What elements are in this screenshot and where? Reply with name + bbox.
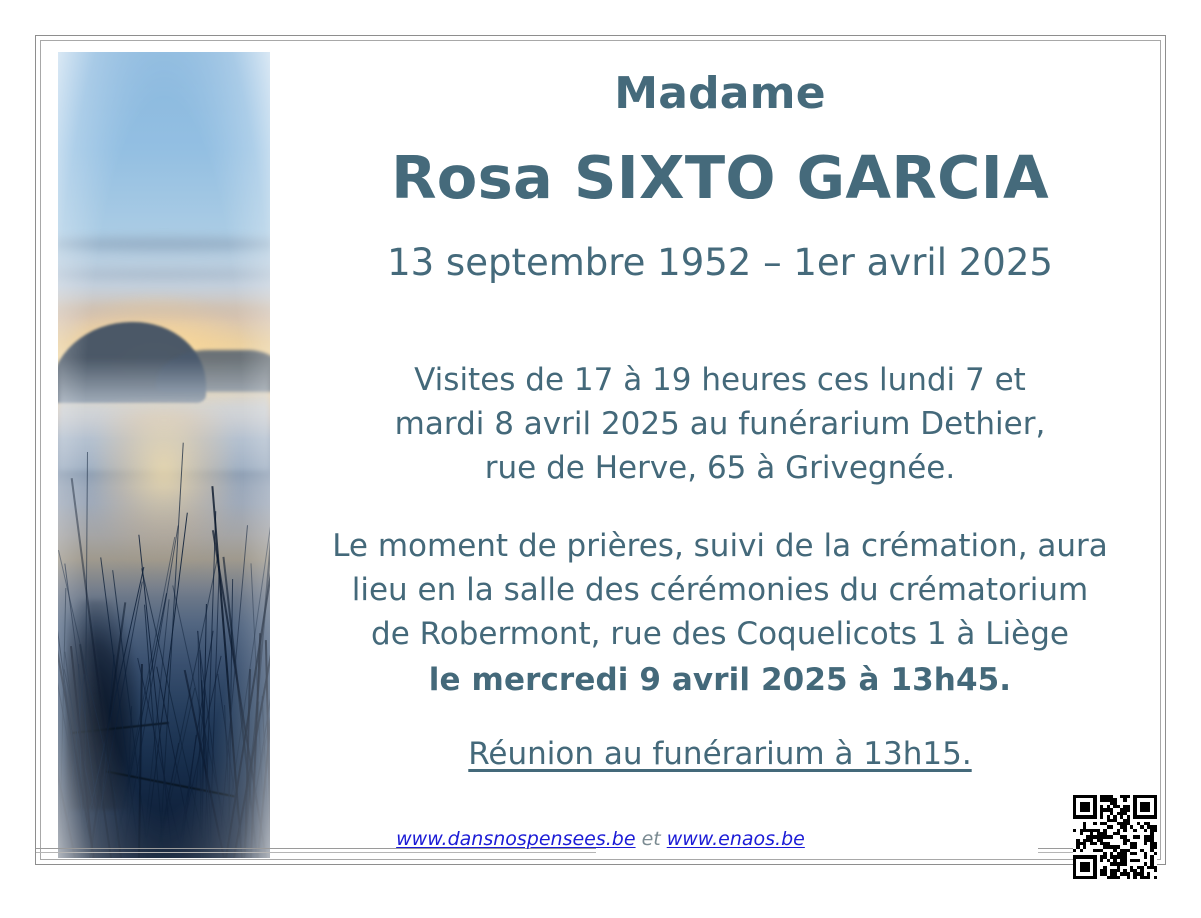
photo-cloud-streak xyxy=(58,270,270,279)
reunion-text: Réunion au funérarium à 13h15. xyxy=(468,736,971,772)
deceased-name: Rosa SIXTO GARCIA xyxy=(290,146,1150,211)
ceremony-line-1: Le moment de prières, suivi de la crémat… xyxy=(332,528,1108,564)
visits-paragraph: Visites de 17 à 19 heures ces lundi 7 et… xyxy=(290,358,1150,490)
visits-line-2: mardi 8 avril 2025 au funérarium Dethier… xyxy=(395,406,1046,442)
honorific: Madame xyxy=(290,70,1150,118)
ceremony-line-2: lieu en la salle des cérémonies du créma… xyxy=(352,572,1089,608)
ceremony-line-3: de Robermont, rue des Coquelicots 1 à Li… xyxy=(371,616,1069,652)
life-dates: 13 septembre 1952 – 1er avril 2025 xyxy=(290,241,1150,285)
link-dansnospensees[interactable]: www.dansnospensees.be xyxy=(396,828,635,850)
memorial-photo xyxy=(58,52,270,858)
photo-cloud-streak xyxy=(58,237,270,251)
visits-line-3: rue de Herve, 65 à Grivegnée. xyxy=(485,450,955,486)
reunion-paragraph: Réunion au funérarium à 13h15. xyxy=(290,732,1150,776)
announcement-text: Madame Rosa SIXTO GARCIA 13 septembre 19… xyxy=(290,70,1150,776)
link-enaos[interactable]: www.enaos.be xyxy=(667,828,805,850)
ceremony-datetime: le mercredi 9 avril 2025 à 13h45. xyxy=(290,658,1150,702)
footer-conjunction: et xyxy=(636,828,667,850)
qr-code[interactable] xyxy=(1073,795,1157,879)
photo-cloud-streak xyxy=(58,302,270,318)
visits-line-1: Visites de 17 à 19 heures ces lundi 7 et xyxy=(414,362,1026,398)
qr-code-grid xyxy=(1073,795,1157,879)
ceremony-paragraph: Le moment de prières, suivi de la crémat… xyxy=(290,524,1150,702)
footer: www.dansnospensees.beetwww.enaos.be xyxy=(0,826,1201,872)
footer-links: www.dansnospensees.beetwww.enaos.be xyxy=(0,828,1201,850)
memorial-photo-image xyxy=(58,52,270,858)
